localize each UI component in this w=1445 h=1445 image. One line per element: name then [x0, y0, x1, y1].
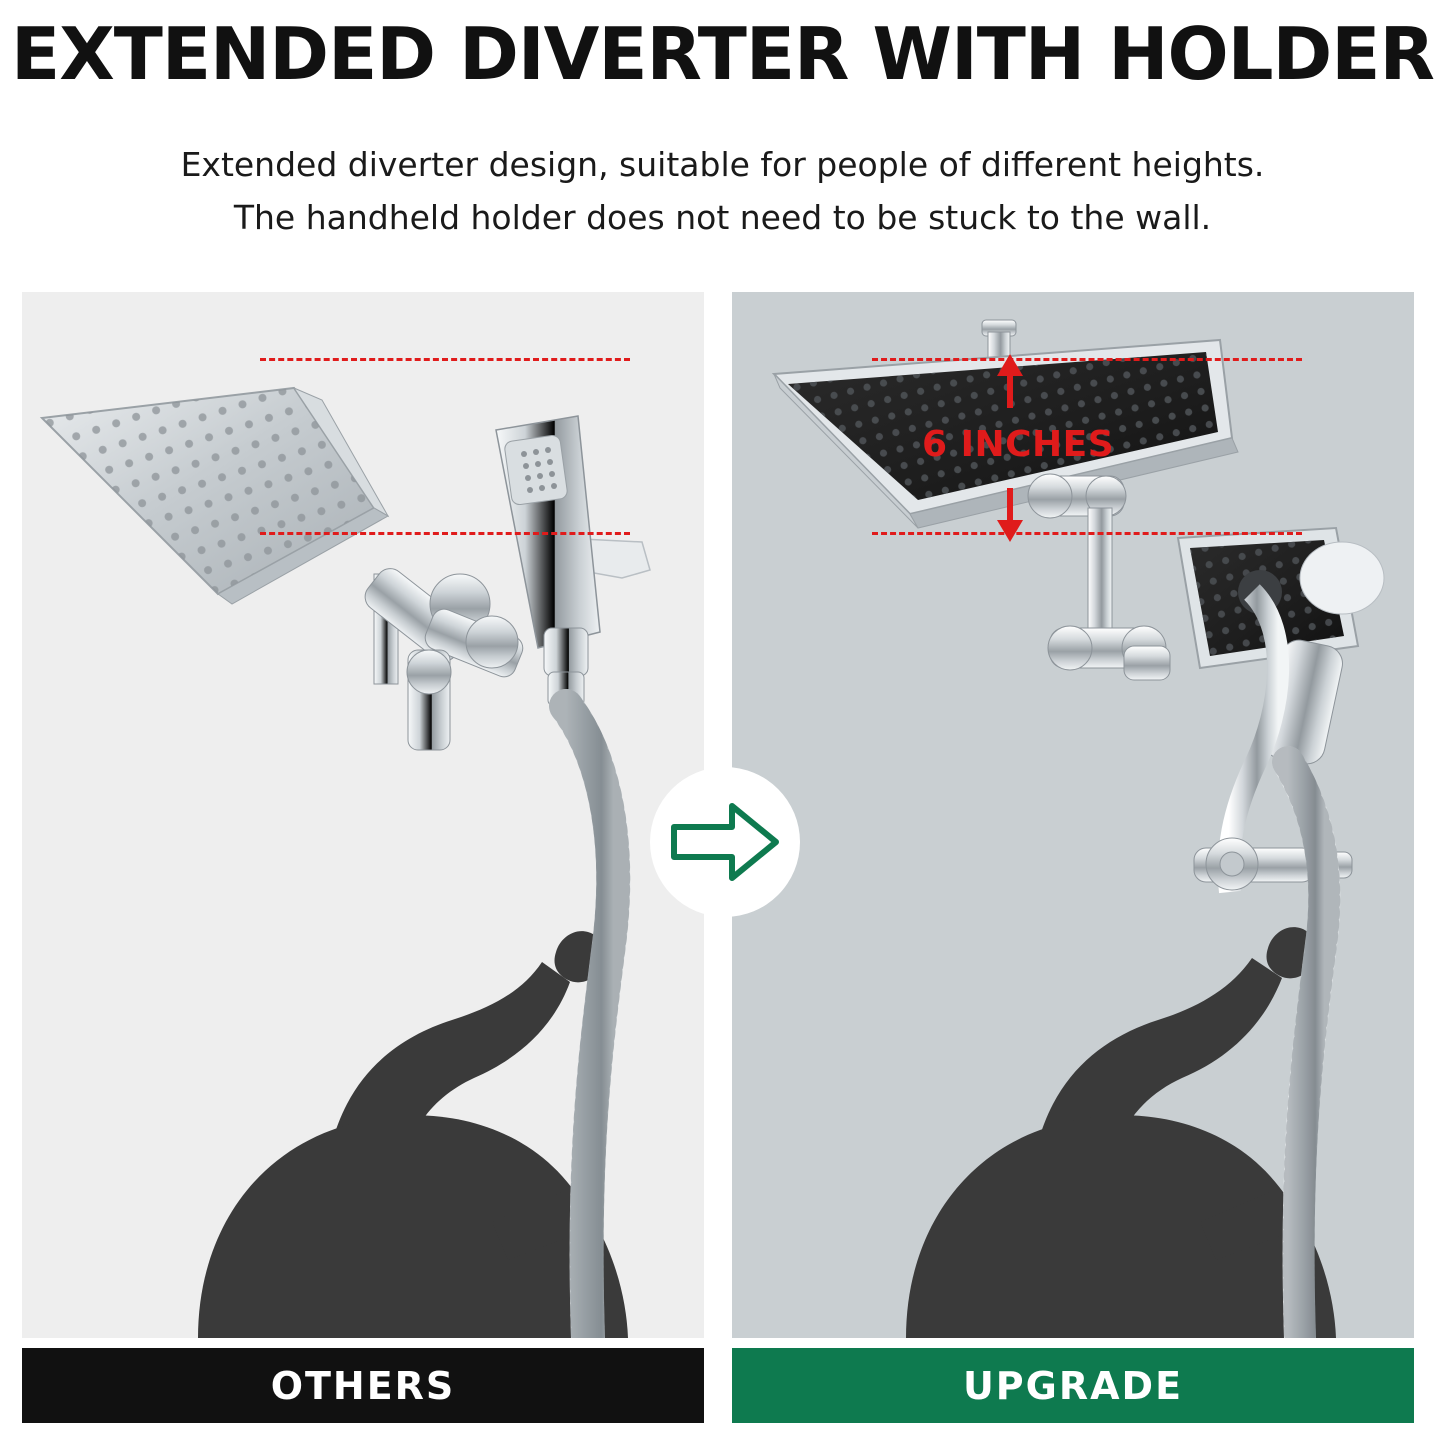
subtitle-line-1: Extended diverter design, suitable for p…: [0, 138, 1445, 191]
panel-others: [22, 292, 704, 1338]
shower-hose-left: [566, 706, 613, 1338]
page-subtitle: Extended diverter design, suitable for p…: [0, 138, 1445, 245]
subtitle-line-2: The handheld holder does not need to be …: [0, 191, 1445, 244]
panel-upgrade: 6 INCHES: [732, 292, 1414, 1338]
measurement-label: 6 INCHES: [922, 424, 1114, 465]
right-arrow-icon: [670, 800, 780, 884]
person-silhouette-right: [906, 927, 1336, 1338]
caption-upgrade: UPGRADE: [732, 1348, 1414, 1423]
reference-line-lower-right: [872, 532, 1302, 535]
extension-arm-right: [1028, 474, 1170, 680]
person-silhouette-left: [198, 931, 628, 1338]
rain-shower-head-left: [42, 388, 388, 604]
reference-line-lower-left: [260, 532, 630, 535]
caption-others: OTHERS: [22, 1348, 704, 1423]
others-illustration: [22, 292, 704, 1338]
comparison-arrow-badge: [650, 767, 800, 917]
reference-line-upper-left: [260, 358, 630, 361]
reference-line-upper-right: [872, 358, 1302, 361]
page-title: EXTENDED DIVERTER WITH HOLDER: [0, 18, 1445, 90]
product-comparison-infographic: EXTENDED DIVERTER WITH HOLDER Extended d…: [0, 0, 1445, 1445]
